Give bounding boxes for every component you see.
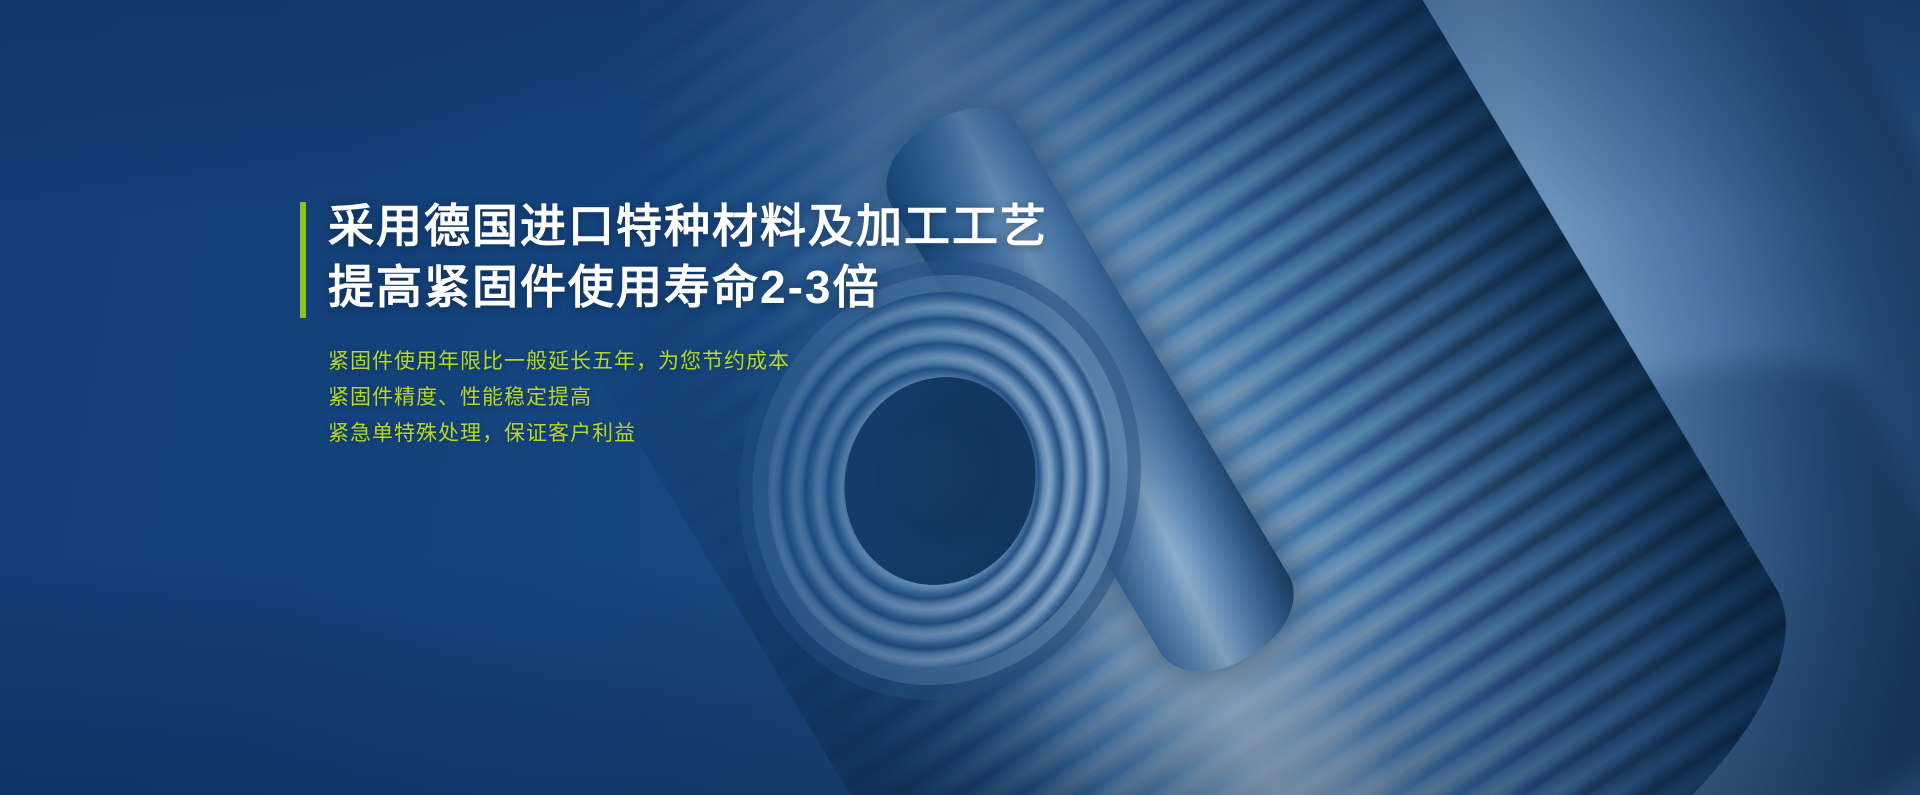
subtext-item-3: 紧急单特殊处理，保证客户利益 [328,416,1060,452]
headline-line-1: 采用德国进口特种材料及加工工艺 [328,196,1060,257]
green-accent-bar [300,202,306,318]
banner-text-block: 采用德国进口特种材料及加工工艺 提高紧固件使用寿命2-3倍 紧固件使用年限比一般… [300,196,1060,452]
subtext-item-2: 紧固件精度、性能稳定提高 [328,380,1060,416]
banner-subtext-list: 紧固件使用年限比一般延长五年，为您节约成本 紧固件精度、性能稳定提高 紧急单特殊… [328,344,1060,452]
hero-banner: 采用德国进口特种材料及加工工艺 提高紧固件使用寿命2-3倍 紧固件使用年限比一般… [0,0,1920,795]
subtext-item-1: 紧固件使用年限比一般延长五年，为您节约成本 [328,344,1060,380]
headline-line-2: 提高紧固件使用寿命2-3倍 [328,257,1060,318]
